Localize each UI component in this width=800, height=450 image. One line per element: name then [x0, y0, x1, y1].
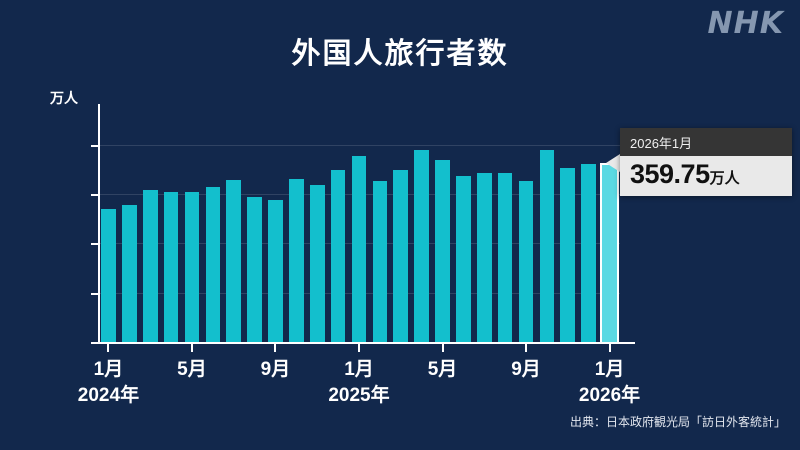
plot-area — [98, 130, 620, 342]
bar[interactable] — [185, 192, 200, 342]
bar[interactable] — [331, 170, 346, 342]
bar[interactable] — [581, 164, 596, 342]
x-axis-tick — [358, 344, 360, 352]
x-axis-month-label: 1月 — [575, 354, 645, 381]
x-axis-year-label: 2026年 — [555, 380, 665, 407]
bar[interactable] — [143, 190, 158, 342]
y-axis-tick — [91, 293, 98, 295]
bar-highlighted[interactable] — [602, 165, 617, 342]
value-tooltip: 2026年1月 359.75万人 — [620, 128, 792, 196]
bar[interactable] — [310, 185, 325, 342]
bar[interactable] — [519, 181, 534, 342]
x-axis-year-label: 2025年 — [304, 380, 414, 407]
bar[interactable] — [540, 150, 555, 342]
bar[interactable] — [352, 156, 367, 342]
y-axis-tick — [91, 194, 98, 196]
bar[interactable] — [226, 180, 241, 342]
bar[interactable] — [435, 160, 450, 342]
bar[interactable] — [414, 150, 429, 342]
tooltip-pointer-icon — [606, 154, 620, 172]
x-axis-tick — [191, 344, 193, 352]
x-axis-month-label: 9月 — [240, 354, 310, 381]
bar[interactable] — [247, 197, 262, 342]
bar[interactable] — [560, 168, 575, 342]
x-axis-tick — [274, 344, 276, 352]
y-axis-tick — [91, 145, 98, 147]
y-axis-tick — [91, 342, 98, 344]
bar[interactable] — [206, 187, 221, 342]
x-axis-month-label: 9月 — [491, 354, 561, 381]
tooltip-value-row: 359.75万人 — [620, 156, 792, 196]
x-axis-year-label: 2024年 — [53, 380, 163, 407]
x-axis-month-label: 1月 — [324, 354, 394, 381]
bar[interactable] — [289, 179, 304, 342]
bar[interactable] — [456, 176, 471, 342]
bar[interactable] — [164, 192, 179, 342]
x-axis-line — [98, 342, 635, 344]
x-axis-tick — [609, 344, 611, 352]
bar[interactable] — [101, 209, 116, 342]
tooltip-period-label: 2026年1月 — [620, 128, 792, 156]
source-attribution: 出典：日本政府観光局「訪日外客統計」 — [570, 413, 786, 430]
x-axis-tick — [107, 344, 109, 352]
page-title: 外国人旅行者数 — [0, 30, 800, 72]
bar[interactable] — [373, 181, 388, 342]
x-axis-month-label: 5月 — [157, 354, 227, 381]
y-axis-tick — [91, 243, 98, 245]
gridline — [98, 145, 620, 146]
bar[interactable] — [122, 205, 137, 343]
x-axis-tick — [442, 344, 444, 352]
x-axis-month-label: 5月 — [408, 354, 478, 381]
chart-screen: NHK 外国人旅行者数 万人 0100200300400 1月5月9月1月5月9… — [0, 0, 800, 450]
tooltip-unit: 万人 — [710, 170, 740, 187]
y-axis-unit-label: 万人 — [50, 88, 78, 108]
tooltip-value: 359.75 — [630, 159, 710, 189]
bar[interactable] — [268, 200, 283, 342]
x-axis-month-label: 1月 — [73, 354, 143, 381]
bar[interactable] — [393, 170, 408, 342]
bar[interactable] — [498, 173, 513, 342]
x-axis-tick — [525, 344, 527, 352]
bar[interactable] — [477, 173, 492, 342]
